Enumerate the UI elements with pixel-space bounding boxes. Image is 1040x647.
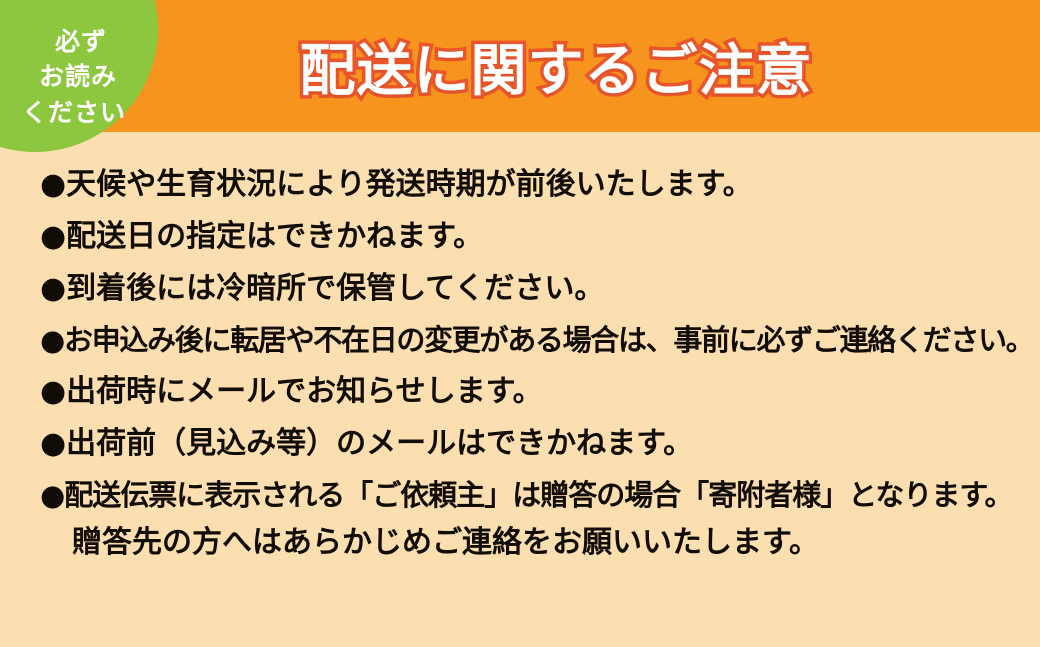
badge-line-3: ください: [22, 95, 134, 131]
notes-list: ●天候や生育状況により発送時期が前後いたします。 ●配送日の指定はできかねます。…: [40, 170, 1026, 580]
note-item-7: ●配送伝票に表示される「ご依頼主」は贈答の場合「寄附者様」となります。: [40, 481, 1026, 510]
note-item-6: ●出荷前（見込み等）のメールはできかねます。: [40, 429, 1026, 459]
badge-line-2: お読み: [39, 59, 117, 95]
note-item-5: ●出荷時にメールでお知らせします。: [40, 377, 1026, 407]
shipping-notice-poster: 配送に関するご注意 必ず お読み ください ●天候や生育状況により発送時期が前後…: [0, 0, 1040, 647]
note-item-3: ●到着後には冷暗所で保管してください。: [40, 274, 1026, 304]
must-read-badge: 必ず お読み ください: [0, 0, 158, 152]
badge-line-1: 必ず: [49, 24, 107, 60]
note-item-7-continuation: 贈答先の方へはあらかじめご連絡をお願いいたします。: [40, 528, 1026, 558]
note-item-4: ●お申込み後に転居や不在日の変更がある場合は、事前に必ずご連絡ください。: [40, 326, 1026, 355]
must-read-badge-text: 必ず お読み ください: [0, 0, 158, 152]
note-item-1: ●天候や生育状況により発送時期が前後いたします。: [40, 170, 1026, 200]
note-item-2: ●配送日の指定はできかねます。: [40, 222, 1026, 252]
